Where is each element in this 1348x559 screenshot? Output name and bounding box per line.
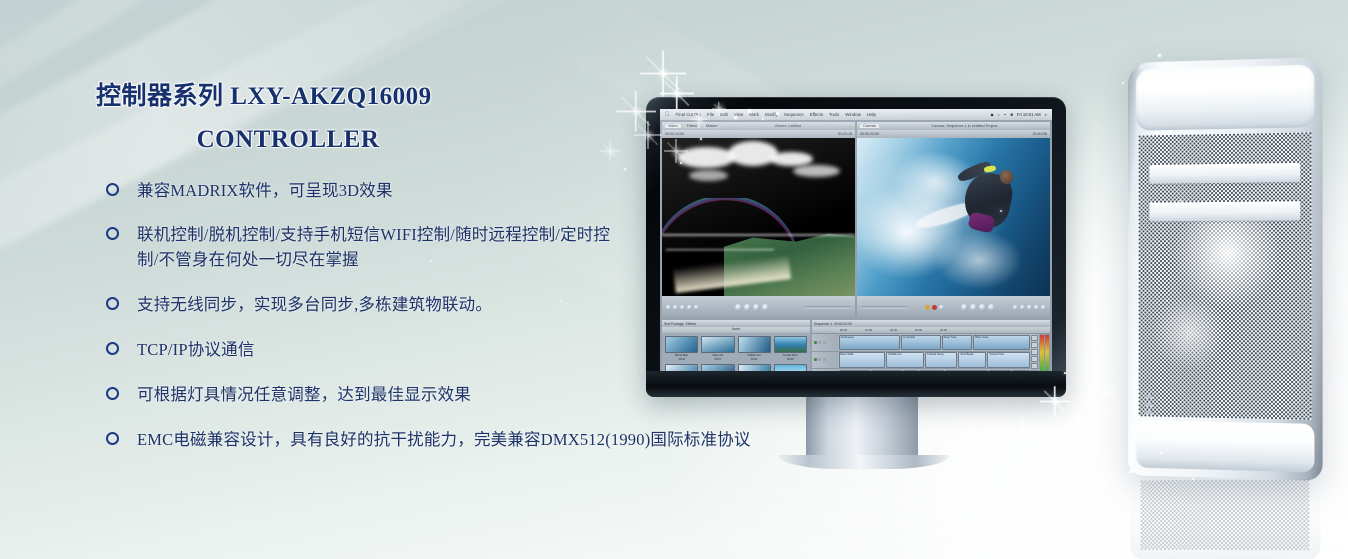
viewer-controls[interactable] [662,296,855,318]
feature-text: TCP/IP协议通信 [137,340,255,359]
timeline-clip[interactable]: Reef Break [958,352,986,368]
clip-thumbnail-grid[interactable]: Barrel Ride 00:04 Wipe Out 00:07 Paddle … [662,333,810,371]
list-item[interactable]: Wipe Out 00:07 [701,336,734,361]
playback-buttons[interactable] [735,304,769,311]
timeline-clip[interactable]: Wave Crest [973,335,1030,351]
timeline-tool-palette[interactable] [1030,334,1039,371]
menu-item-modify[interactable]: Modify [765,112,778,117]
clip-name: Barrel Ride [665,354,698,357]
timeline-body: Air Reverse Lip Smash Deep Tube Wave Cre… [812,334,1050,371]
bullet-ring-icon [106,387,119,400]
mac-pro-tower [1128,57,1323,481]
cinema-display:  Final Cut Pro File Edit View Mark Modi… [646,97,1066,397]
battery-icon[interactable]: ■ [1010,112,1013,117]
firewire-port-icon[interactable] [1145,403,1152,407]
bullet-ring-icon [106,297,119,310]
clip-name: Wipe Out [701,354,734,357]
final-cut-pro-window:  Final Cut Pro File Edit View Mark Modi… [660,109,1052,371]
tower-bottom-panel [1136,420,1315,472]
feature-text: EMC电磁兼容设计，具有良好的抗干扰能力，完美兼容DMX512(1990)国际标… [137,430,751,449]
clip-duration: 00:09 [774,358,807,361]
menu-item-effects[interactable]: Effects [810,112,823,117]
viewer-title: Viewer: Untitled [723,124,852,128]
tower-reflection [1130,479,1321,559]
surfer-photo [857,138,1050,296]
tab-surf-footage[interactable]: Surf Footage [664,322,684,326]
headphone-port-icon[interactable] [1145,410,1152,414]
menu-item-window[interactable]: Window [845,112,861,117]
title-line-2: CONTROLLER [96,125,616,155]
browser-panel[interactable]: Surf Footage Effects Name Barrel Ride 00… [662,320,810,371]
list-item[interactable]: Rainbow Bay 00:11 [774,364,807,371]
ruler-mark: 04:00 [940,328,947,332]
beach-rainbow-photo [662,138,855,296]
menu-item-tools[interactable]: Tools [829,112,839,117]
menu-item-sequence[interactable]: Sequence [784,112,804,117]
tool-crop[interactable] [1031,363,1038,369]
tool-razor[interactable] [1031,349,1038,355]
canvas-duration[interactable]: 01:01:06 [1033,132,1047,136]
timeline-clip[interactable]: Sunset Point [987,352,1029,368]
timeline-clip[interactable]: Barrel Ride [839,352,886,368]
macos-menubar[interactable]:  Final Cut Pro File Edit View Mark Modi… [660,109,1052,120]
jog-scrubber[interactable] [805,306,851,309]
ruler-mark: 02:00 [890,328,897,332]
viewer-subbar[interactable]: 00:00:14:00 01:21:18 [662,130,855,138]
feature-text: 支持无线同步，实现多台同步,多栋建筑物联动。 [137,295,492,314]
timeline-panel[interactable]: Sequence 1 00:00:22:09 00:00 01:00 02:00… [812,320,1050,371]
bottom-row: Surf Footage Effects Name Barrel Ride 00… [660,320,1052,371]
menu-item-help[interactable]: Help [867,112,876,117]
track-v1[interactable]: Barrel Ride Paddle Out Cutback Spray Ree… [838,352,1030,370]
viewer-timecode[interactable]: 00:00:14:00 [665,132,684,136]
list-item[interactable]: Wave Crest 00:08 [738,364,771,371]
canvas-tabbar[interactable]: Canvas Canvas: Sequence 1 in Untitled Pr… [857,122,1050,130]
list-item: 联机控制/脱机控制/支持手机短信WIFI控制/随时远程控制/定时控制/不管身在何… [104,222,617,272]
bullet-ring-icon [106,342,119,355]
clip-name: Paddle Out [738,354,771,357]
timeline-tabbar[interactable]: Sequence 1 00:00:22:09 [812,320,1050,327]
menu-item-file[interactable]: File [707,112,714,117]
menubar-clock[interactable]: Fri 10:51 AM [1017,112,1041,117]
apple-menu-icon[interactable]:  [665,112,670,118]
display-chin [646,371,1066,397]
title-line-1: 控制器系列 LXY-AKZQ16009 [96,82,616,112]
tab-video[interactable]: Video [665,124,681,128]
display-screen:  Final Cut Pro File Edit View Mark Modi… [660,109,1052,371]
clip-duration: 00:04 [665,358,698,361]
canvas-title: Canvas: Sequence 1 in Untitled Project [882,124,1047,128]
menu-item-edit[interactable]: Edit [720,112,728,117]
wifi-icon[interactable]: ◓ [1004,112,1007,117]
tower-top-panel [1136,65,1315,131]
tower-front-ports[interactable] [1145,395,1152,415]
list-item[interactable]: Paddle Out 00:05 [738,336,771,361]
viewer-pane: Video Filters Motion Viewer: Untitled 00… [662,122,855,318]
volume-icon[interactable]: ♪ [998,112,1000,117]
spotlight-search-icon[interactable]: ⌕ [1045,112,1047,117]
timeline-clip[interactable]: Lip Smash [901,335,941,351]
timeline-clip[interactable]: Air Reverse [839,335,900,351]
list-item[interactable]: Sunset Point 00:09 [774,336,807,361]
ruler-mark: 01:00 [865,328,872,332]
bullet-ring-icon [106,183,119,196]
tab-sequence-1[interactable]: Sequence 1 [814,322,832,326]
timeline-clip[interactable]: Paddle Out [886,352,923,368]
tool-edit[interactable] [1031,342,1038,348]
bullet-ring-icon [106,432,119,445]
viewer-duration[interactable]: 01:21:18 [838,132,852,136]
feature-text: 兼容MADRIX软件，可呈现3D效果 [137,181,393,200]
clip-duration: 00:05 [738,358,771,361]
tool-selection[interactable] [1031,335,1038,341]
display-stand-neck [806,393,918,459]
tower-model-label: Mac Pro [1292,350,1313,356]
viewer-tabbar[interactable]: Video Filters Motion Viewer: Untitled [662,122,855,130]
transport-buttons-left[interactable] [666,305,699,310]
tab-motion[interactable]: Motion [703,124,720,128]
tool-zoom[interactable] [1031,356,1038,362]
track-header-v2[interactable] [812,334,838,352]
timeline-timecode[interactable]: 00:00:22:09 [834,322,852,326]
transport-buttons-right[interactable] [1013,305,1046,310]
optical-drive-slot-1[interactable] [1149,163,1300,184]
timeline-clip[interactable]: Deep Tube [942,335,972,351]
marker-buttons[interactable] [925,305,944,310]
bullet-ring-icon [106,227,119,240]
page-title: 控制器系列 LXY-AKZQ16009 CONTROLLER [96,82,616,155]
canvas-subbar[interactable]: 00:00:22:09 01:01:06 [857,130,1050,138]
optical-drive-slot-2[interactable] [1149,201,1300,221]
clip-duration: 00:07 [701,358,734,361]
tab-canvas[interactable]: Canvas [860,124,879,128]
track-headers[interactable] [812,334,838,371]
canvas-scrubber[interactable] [861,306,907,309]
canvas-timecode[interactable]: 00:00:22:09 [860,132,879,136]
product-banner: 控制器系列 LXY-AKZQ16009 CONTROLLER 兼容MADRIX软… [0,0,1348,559]
list-item[interactable]: Deep Tube 00:03 [701,364,734,371]
track-header-v1[interactable] [812,352,838,370]
feature-text: 可根据灯具情况任意调整，达到最佳显示效果 [137,385,471,404]
canvas-pane: Canvas Canvas: Sequence 1 in Untitled Pr… [857,122,1050,318]
viewer-row: Video Filters Motion Viewer: Untitled 00… [660,120,1052,320]
canvas-video-surfer[interactable] [857,138,1050,296]
track-v2[interactable]: Air Reverse Lip Smash Deep Tube Wave Cre… [838,334,1030,352]
timeline-clip[interactable]: Cutback Spray [925,352,958,368]
ruler-mark: 00:00 [840,328,847,332]
track-lanes[interactable]: Air Reverse Lip Smash Deep Tube Wave Cre… [838,334,1030,371]
menu-item-app[interactable]: Final Cut Pro [676,112,702,117]
usb-port-icon[interactable] [1145,395,1152,399]
tab-effects[interactable]: Effects [686,322,696,326]
menu-item-view[interactable]: View [734,112,743,117]
list-item[interactable]: Cutback Spray 00:06 [665,364,698,371]
tab-filters[interactable]: Filters [684,124,700,128]
bluetooth-icon[interactable]: ◆ [991,112,994,117]
list-item[interactable]: Barrel Ride 00:04 [665,336,698,361]
audio-meters [1039,334,1050,371]
ruler-mark: 03:00 [915,328,922,332]
menu-item-mark[interactable]: Mark [749,112,759,117]
clip-name: Sunset Point [774,354,807,357]
canvas-playback-buttons[interactable] [961,304,995,311]
browser-tabbar[interactable]: Surf Footage Effects [662,320,810,327]
timeline-ruler[interactable]: 00:00 01:00 02:00 03:00 04:00 [812,327,1050,334]
feature-text: 联机控制/脱机控制/支持手机短信WIFI控制/随时远程控制/定时控制/不管身在何… [137,225,610,269]
canvas-controls[interactable] [857,296,1050,318]
viewer-video-beach[interactable] [662,138,855,296]
